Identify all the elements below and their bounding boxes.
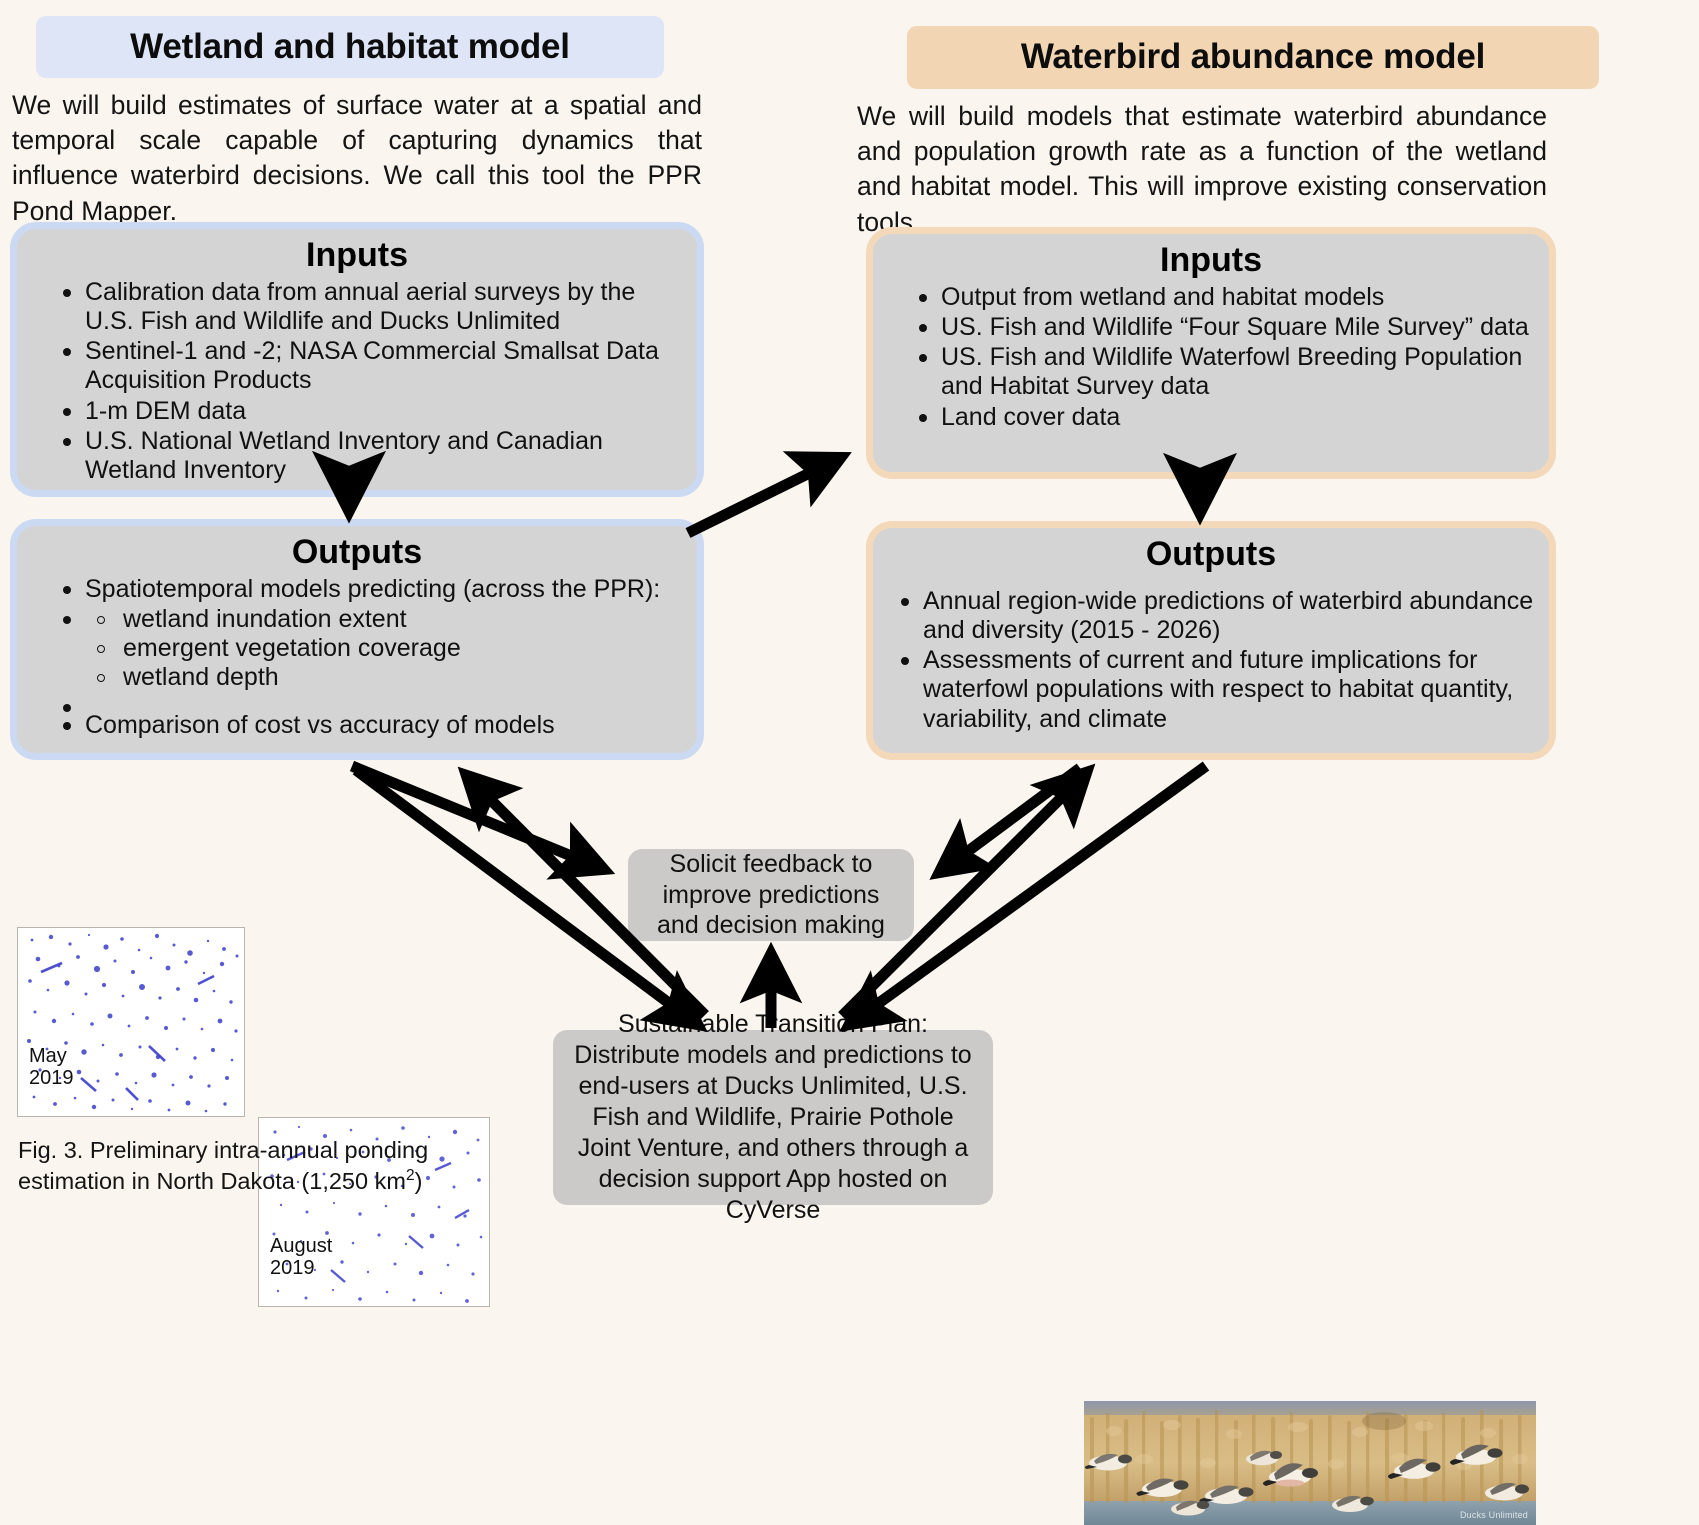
left-outputs-sublist-wrap: wetland inundation extent emergent veget…: [63, 605, 683, 693]
diagram-canvas: Wetland and habitat model We will build …: [0, 0, 1699, 1329]
list-item: wetland depth: [97, 663, 683, 692]
list-item: Calibration data from annual aerial surv…: [63, 278, 683, 337]
list-item: US. Fish and Wildlife “Four Square Mile …: [919, 313, 1535, 342]
list-item: Annual region-wide predictions of waterb…: [901, 587, 1535, 646]
duck: [1171, 1501, 1209, 1516]
spacer: [63, 693, 683, 710]
list-item: wetland inundation extent: [97, 605, 683, 634]
thumb-label-may: May 2019: [29, 1045, 74, 1090]
list-item: U.S. National Wetland Inventory and Cana…: [63, 427, 683, 486]
list-item: Comparison of cost vs accuracy of models: [63, 711, 683, 740]
left-column-intro: We will build estimates of surface water…: [12, 88, 702, 229]
figure-caption-superscript: 2: [406, 1167, 415, 1184]
left-column-title: Wetland and habitat model: [36, 16, 664, 78]
figure-caption: Fig. 3. Preliminary intra-annual ponding…: [18, 1135, 478, 1196]
waterbird-photo: Ducks Unlimited: [1084, 1401, 1536, 1525]
figure-caption-line2: estimation in North Dakota (1,250 km2): [18, 1166, 478, 1197]
feedback-box: Solicit feedback to improve predictions …: [628, 849, 914, 941]
transition-plan-box: Sustainable Transition Plan: Distribute …: [553, 1030, 993, 1205]
list-item: 1-m DEM data: [63, 397, 683, 426]
duck: [1199, 1486, 1253, 1504]
waterbird-photo-art: [1084, 1401, 1536, 1525]
figure-caption-line1: Fig. 3. Preliminary intra-annual ponding: [18, 1135, 478, 1166]
arrow-diagonal-icon: [688, 458, 840, 533]
right-inputs-card: Inputs Output from wetland and habitat m…: [866, 227, 1556, 479]
duck: [1136, 1479, 1188, 1497]
left-inputs-card: Inputs Calibration data from annual aeri…: [10, 222, 704, 497]
right-outputs-card: Outputs Annual region-wide predictions o…: [866, 521, 1556, 760]
photo-watermark: Ducks Unlimited: [1460, 1510, 1528, 1520]
arrow-diagonal-icon: [940, 768, 1080, 872]
figure-caption-line2-b: ): [415, 1168, 423, 1194]
duck: [1450, 1445, 1503, 1465]
thumb-label-august: August 2019: [270, 1235, 332, 1280]
list-item: US. Fish and Wildlife Waterfowl Breeding…: [919, 343, 1535, 402]
duck: [1388, 1459, 1441, 1479]
left-outputs-list: Spatiotemporal models predicting (across…: [17, 575, 697, 740]
left-inputs-heading: Inputs: [17, 238, 697, 274]
left-outputs-card: Outputs Spatiotemporal models predicting…: [10, 519, 704, 760]
duck: [1332, 1496, 1374, 1512]
list-item: Sentinel-1 and -2; NASA Commercial Small…: [63, 337, 683, 396]
duck: [1085, 1454, 1132, 1471]
ponding-thumbnail-may: May 2019: [17, 927, 245, 1117]
left-outputs-sublist: wetland inundation extent emergent veget…: [63, 605, 683, 693]
left-outputs-heading: Outputs: [17, 535, 697, 571]
right-inputs-heading: Inputs: [873, 243, 1549, 279]
right-inputs-list: Output from wetland and habitat models U…: [873, 283, 1549, 432]
right-column-title: Waterbird abundance model: [907, 26, 1599, 89]
duck: [1485, 1483, 1529, 1500]
list-item: emergent vegetation coverage: [97, 634, 683, 663]
left-inputs-list: Calibration data from annual aerial surv…: [17, 278, 697, 486]
list-item: Assessments of current and future implic…: [901, 646, 1535, 734]
right-outputs-heading: Outputs: [873, 537, 1549, 573]
right-column-intro: We will build models that estimate water…: [857, 99, 1547, 240]
right-outputs-list: Annual region-wide predictions of waterb…: [873, 587, 1549, 734]
list-item: Spatiotemporal models predicting (across…: [63, 575, 683, 604]
figure-caption-line2-a: estimation in North Dakota (1,250 km: [18, 1168, 406, 1194]
list-item: Land cover data: [919, 403, 1535, 432]
duck: [1246, 1451, 1282, 1465]
arrow-diagonal-icon: [352, 766, 603, 869]
duck: [1263, 1463, 1318, 1486]
list-item: Output from wetland and habitat models: [919, 283, 1535, 312]
